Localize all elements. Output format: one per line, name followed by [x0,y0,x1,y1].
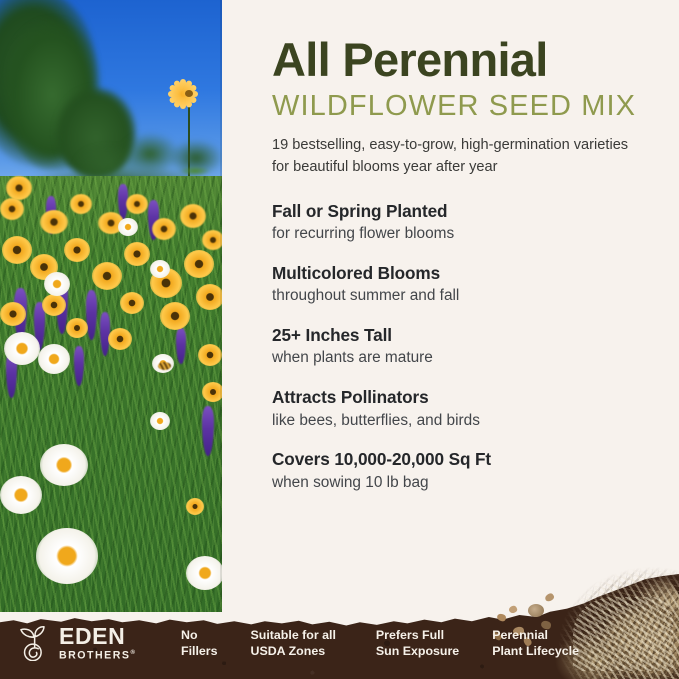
product-description: 19 bestselling, easy-to-grow, high-germi… [272,135,632,177]
feature-list: Fall or Spring Planted for recurring flo… [272,200,655,494]
badge-line-2: USDA Zones [251,643,336,659]
white-daisy-bloom [44,272,70,296]
feature-subtext: throughout summer and fall [272,286,655,307]
badge-line-2: Fillers [181,643,218,659]
feature-item-height: 25+ Inches Tall when plants are mature [272,324,655,369]
product-copy-panel: All Perennial WILDFLOWER SEED MIX 19 bes… [222,0,679,612]
yellow-bloom [198,344,222,366]
tall-flower-leaf [180,166,210,176]
logo-brothers-text: BROTHERS® [59,650,136,661]
badge-line-1: Prefers Full [376,627,459,643]
badge-line-1: Suitable for all [251,627,336,643]
logo-eden-text: EDEN [59,623,125,649]
feature-subtext: for recurring flower blooms [272,224,655,245]
footer-band: EDEN BROTHERS® No Fillers Suitable for a… [0,574,679,679]
feature-heading: 25+ Inches Tall [272,324,655,346]
badge-line-2: Plant Lifecycle [492,643,579,659]
yellow-bloom [186,498,204,515]
feature-subtext: when sowing 10 lb bag [272,473,655,494]
yellow-bloom [180,204,206,228]
yellow-bloom [124,242,150,266]
white-daisy-bloom [150,412,170,430]
footer-content: EDEN BROTHERS® No Fillers Suitable for a… [0,607,679,679]
yellow-bloom [202,230,222,250]
yellow-bloom [92,262,122,290]
badge-no-fillers: No Fillers [181,627,218,660]
yellow-bloom [160,302,190,330]
tall-yellow-bloom-icon [172,84,206,104]
yellow-bloom [152,218,176,240]
logo-brothers-label: BROTHERS [59,649,130,661]
white-daisy-bloom [40,444,88,486]
feature-item-pollinators: Attracts Pollinators like bees, butterfl… [272,386,655,431]
feature-badges: No Fillers Suitable for all USDA Zones P… [144,627,579,660]
eden-brothers-logo[interactable]: EDEN BROTHERS® [18,625,144,661]
feature-subtext: like bees, butterflies, and birds [272,411,655,432]
yellow-bloom [40,210,68,234]
feature-heading: Covers 10,000-20,000 Sq Ft [272,448,655,470]
feature-heading: Attracts Pollinators [272,386,655,408]
yellow-bloom [196,284,222,310]
page-title: All Perennial [272,36,655,84]
bee-icon [158,362,171,370]
yellow-bloom [120,292,144,314]
yellow-bloom [0,198,24,220]
product-infographic: All Perennial WILDFLOWER SEED MIX 19 bes… [0,0,679,679]
grass-texture [0,176,222,612]
yellow-bloom [6,176,32,200]
wildflower-meadow-photo [0,0,222,612]
feature-item-planting: Fall or Spring Planted for recurring flo… [272,200,655,245]
white-daisy-bloom [118,218,138,236]
yellow-bloom [126,194,148,214]
yellow-bloom [42,294,66,316]
yellow-bloom [184,250,214,278]
yellow-bloom [70,194,92,214]
white-daisy-bloom [150,260,170,278]
feature-heading: Fall or Spring Planted [272,200,655,222]
feature-subtext: when plants are mature [272,348,655,369]
meadow-foliage [0,176,222,612]
badge-plant-lifecycle: Perennial Plant Lifecycle [492,627,579,660]
yellow-bloom [202,382,222,402]
badge-line-1: Perennial [492,627,579,643]
registered-trademark-icon: ® [130,650,136,656]
feature-item-coverage: Covers 10,000-20,000 Sq Ft when sowing 1… [272,448,655,493]
feature-heading: Multicolored Blooms [272,262,655,284]
white-daisy-bloom [4,332,40,365]
logo-wordmark: EDEN BROTHERS® [59,625,136,661]
yellow-bloom [2,236,32,264]
sprout-seedling-icon [18,625,52,661]
badge-sun-exposure: Prefers Full Sun Exposure [376,627,459,660]
product-subtitle: WILDFLOWER SEED MIX [272,91,655,121]
yellow-bloom [64,238,90,262]
badge-usda-zones: Suitable for all USDA Zones [251,627,336,660]
yellow-bloom [108,328,132,350]
feature-item-blooms: Multicolored Blooms throughout summer an… [272,262,655,307]
badge-line-1: No [181,627,218,643]
yellow-bloom [66,318,88,338]
badge-line-2: Sun Exposure [376,643,459,659]
white-daisy-bloom [38,344,70,374]
white-daisy-bloom [0,476,42,514]
yellow-bloom [0,302,26,326]
